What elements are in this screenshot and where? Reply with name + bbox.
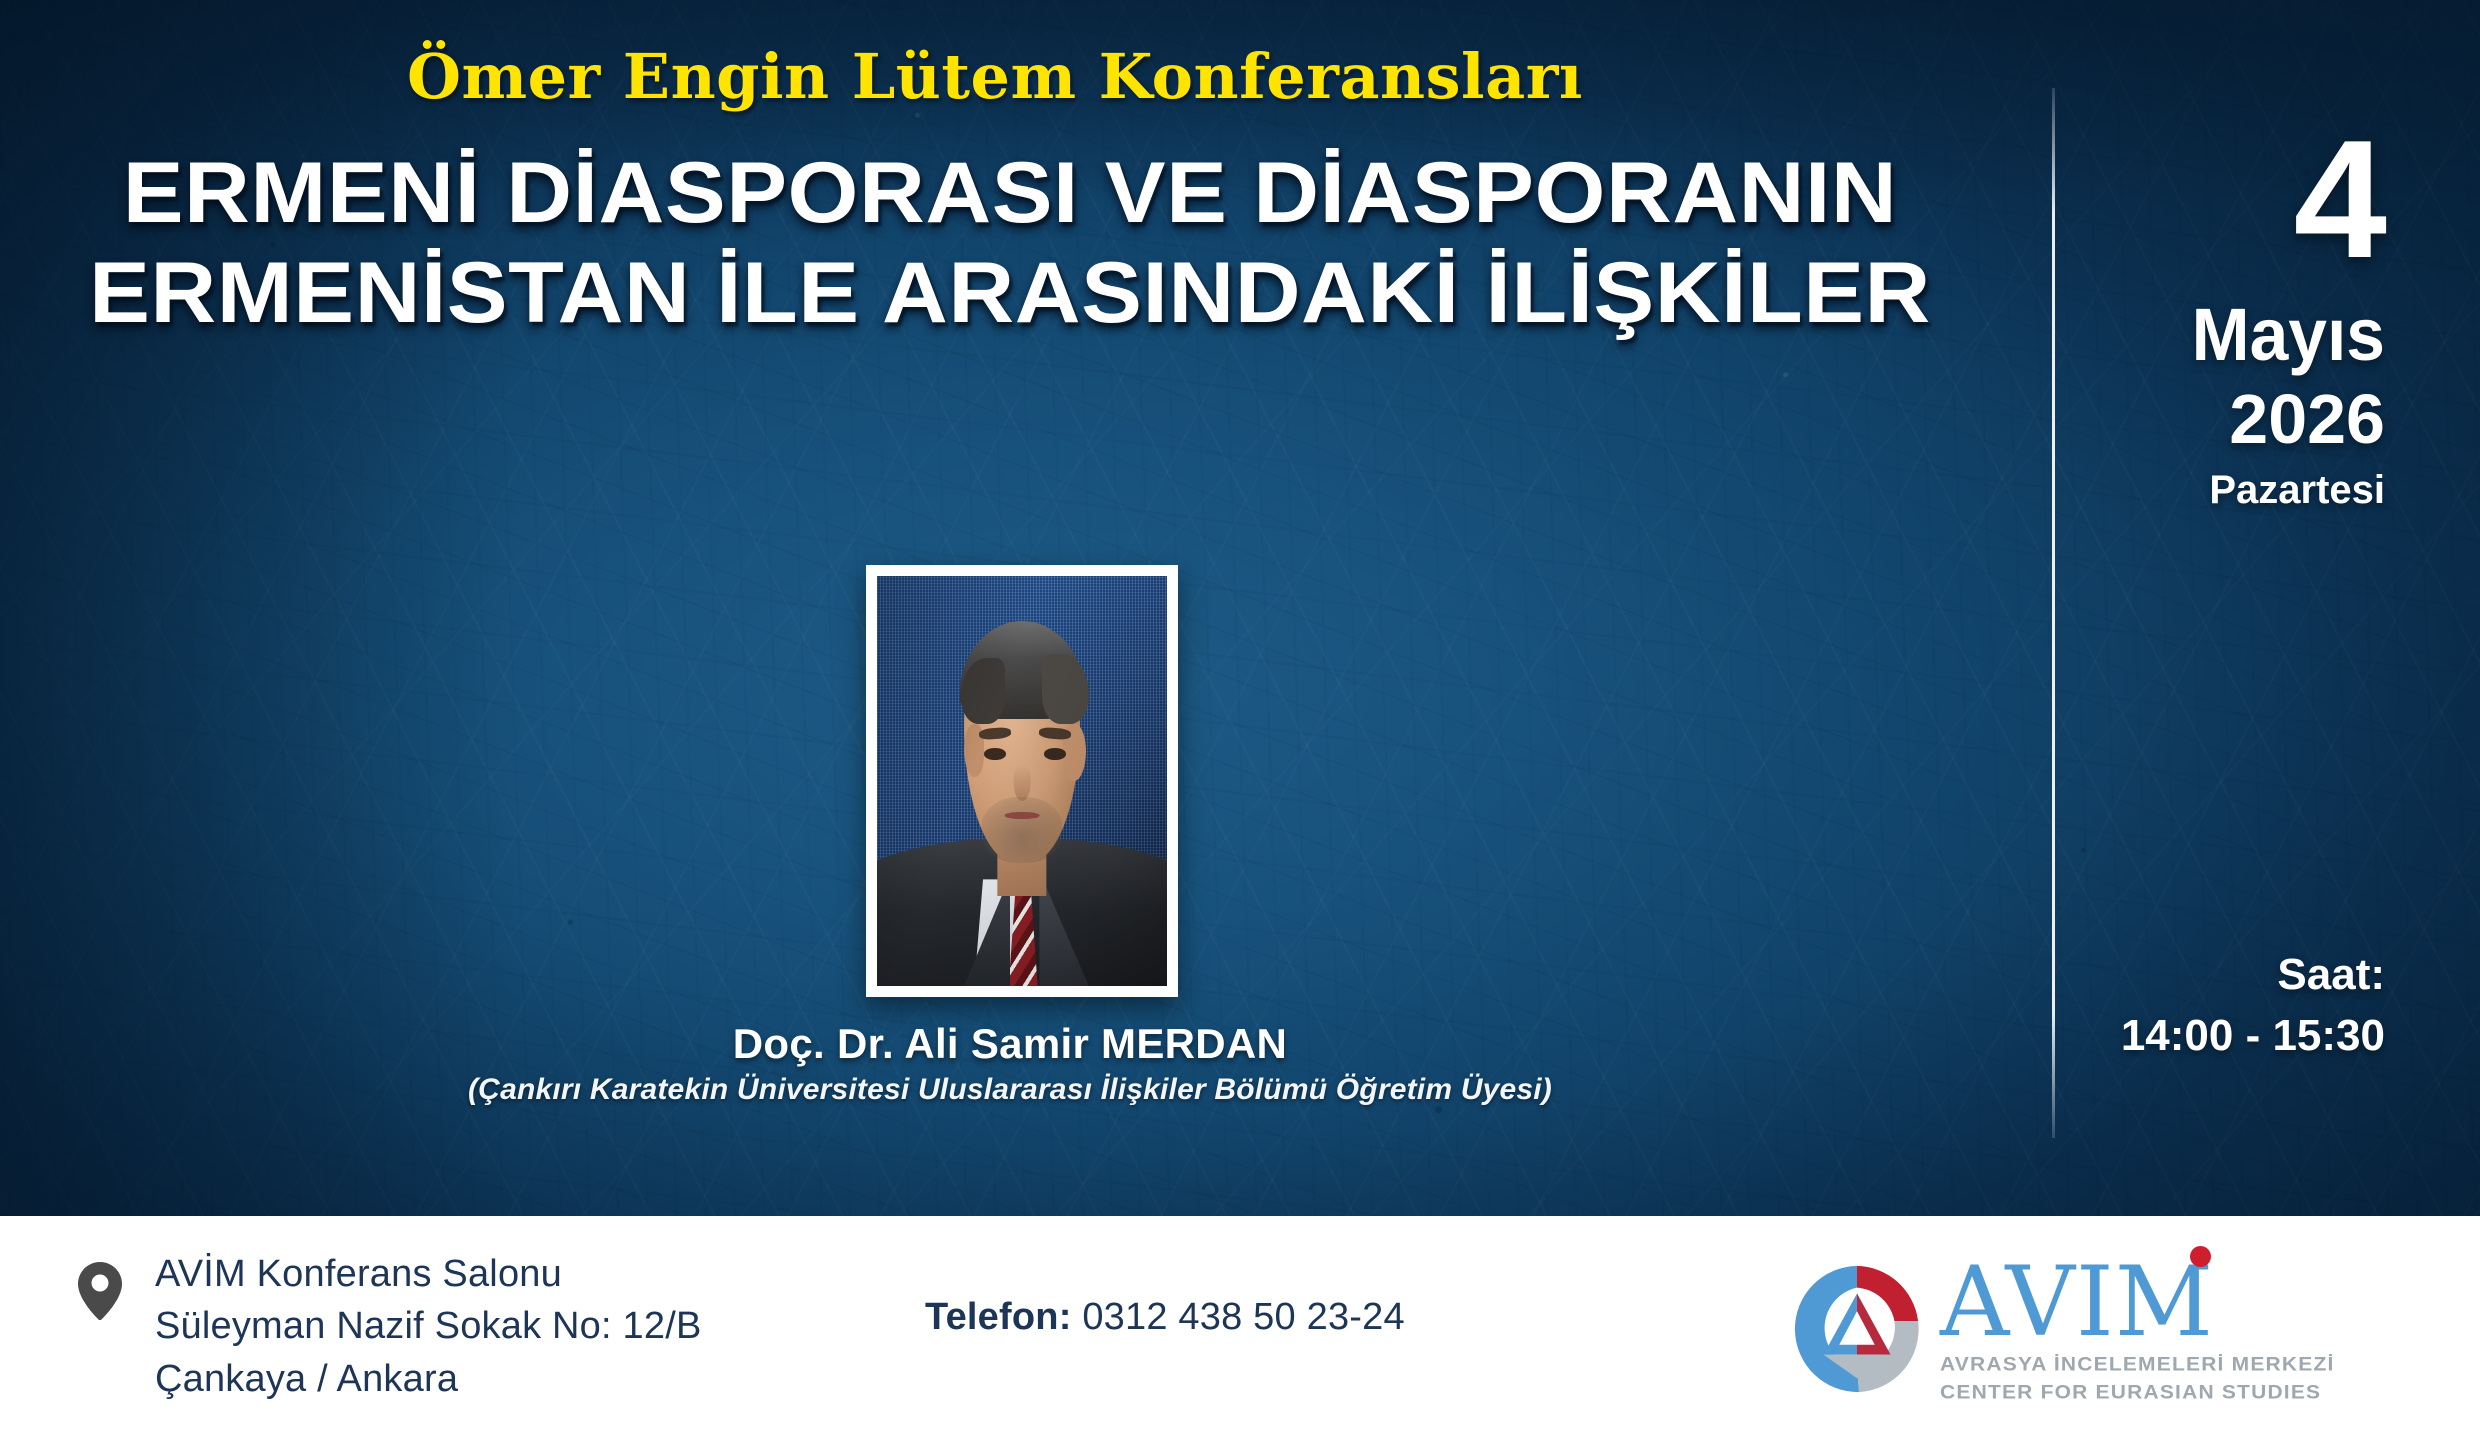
venue-street: Süleyman Nazif Sokak No: 12/B	[155, 1300, 702, 1352]
date-weekday: Pazartesi	[1965, 468, 2385, 512]
avim-wordmark-group: AVIM AVRASYA İNCELEMELERİ MERKEZİ CENTER…	[1940, 1254, 2426, 1406]
speaker-name: Doç. Dr. Ali Samir MERDAN	[40, 1020, 1980, 1068]
portrait-lighting-overlay	[877, 576, 1167, 986]
avim-tagline-en: CENTER FOR EURASIAN STUDIES	[1940, 1382, 2426, 1404]
headline: ERMENİ DİASPORASI VE DİASPORANIN ERMENİS…	[40, 150, 1980, 337]
event-poster: Ömer Engin Lütem Konferansları ERMENİ Dİ…	[0, 0, 2480, 1441]
avim-tagline-tr: AVRASYA İNCELEMELERİ MERKEZİ	[1940, 1354, 2426, 1376]
map-pin-icon	[78, 1262, 122, 1320]
series-title: Ömer Engin Lütem Konferansları	[0, 40, 1990, 113]
phone-line: Telefon: 0312 438 50 23-24	[925, 1296, 1405, 1339]
phone-number: 0312 438 50 23-24	[1082, 1296, 1404, 1338]
speaker-affiliation: (Çankırı Karatekin Üniversitesi Uluslara…	[40, 1073, 1980, 1107]
headline-line-1: ERMENİ DİASPORASI VE DİASPORANIN	[0, 150, 2038, 238]
time-label: Saat:	[1965, 950, 2385, 1001]
date-day: 4	[1965, 120, 2385, 280]
avim-logo-red-dot	[2190, 1246, 2211, 1267]
time-block: Saat: 14:00 - 15:30	[1965, 950, 2385, 1061]
avim-swirl-icon	[1788, 1260, 1926, 1398]
speaker-portrait	[877, 576, 1167, 986]
time-value: 14:00 - 15:30	[1965, 1011, 2385, 1062]
venue-address: AVİM Konferans Salonu Süleyman Nazif Sok…	[155, 1248, 702, 1405]
date-year: 2026	[1965, 381, 2385, 458]
venue-name: AVİM Konferans Salonu	[155, 1248, 702, 1300]
avim-wordmark: AVIM	[1940, 1254, 2214, 1350]
date-block: 4 Mayıs 2026 Pazartesi	[1965, 120, 2385, 512]
venue-district: Çankaya / Ankara	[155, 1353, 702, 1405]
speaker-portrait-frame	[866, 565, 1178, 997]
phone-label: Telefon:	[925, 1296, 1072, 1338]
date-month: Mayıs	[1990, 296, 2385, 374]
headline-line-2: ERMENİSTAN İLE ARASINDAKİ İLİŞKİLER	[0, 250, 2038, 338]
avim-logo[interactable]: AVIM AVRASYA İNCELEMELERİ MERKEZİ CENTER…	[1788, 1254, 2428, 1404]
footer-bar: AVİM Konferans Salonu Süleyman Nazif Sok…	[0, 1216, 2480, 1441]
